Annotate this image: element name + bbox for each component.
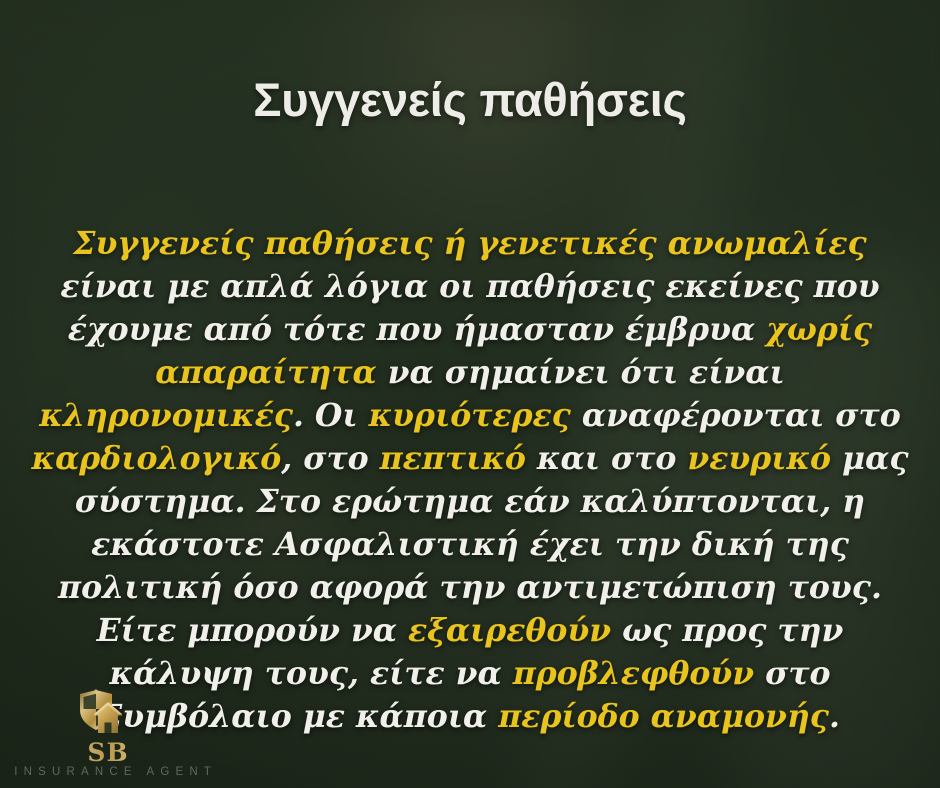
highlighted-phrase: περίοδο αναμονής (498, 698, 829, 735)
body-text-run: και στο (526, 440, 687, 477)
body-text-run: αναφέρονται στο (571, 397, 901, 434)
body-text-run: . Οι (293, 397, 369, 434)
poster-content: Συγγενείς παθήσεις Συγγενείς παθήσεις ή … (0, 0, 940, 788)
highlighted-phrase: κυριότερες (369, 397, 571, 434)
highlighted-phrase: προβλεφθούν (513, 655, 754, 692)
body-paragraph: Συγγενείς παθήσεις ή γενετικές ανωμαλίες… (26, 222, 914, 738)
body-text-run: . (829, 698, 840, 735)
body-text-run: να σημαίνει ότι είναι (377, 354, 785, 391)
logo-monogram: SB (8, 738, 208, 767)
highlighted-phrase: καρδιολογικό (31, 440, 281, 477)
highlighted-phrase: Συγγενείς παθήσεις ή γενετικές ανωμαλίες (73, 225, 866, 262)
body-text-run: είναι με απλά λόγια οι παθήσεις εκείνες … (60, 268, 879, 348)
insurance-info-poster: Συγγενείς παθήσεις Συγγενείς παθήσεις ή … (0, 0, 940, 788)
highlighted-phrase: κληρονομικές (39, 397, 293, 434)
body-text-run: , στο (281, 440, 379, 477)
logo-tagline: INSURANCE AGENT (8, 766, 208, 778)
highlighted-phrase: νευρικό (687, 440, 831, 477)
shield-house-icon (70, 688, 142, 742)
brand-logo: SB INSURANCE AGENT (8, 688, 208, 774)
highlighted-phrase: πεπτικό (380, 440, 526, 477)
page-title: Συγγενείς παθήσεις (0, 75, 940, 124)
highlighted-phrase: εξαιρεθούν (408, 612, 611, 649)
